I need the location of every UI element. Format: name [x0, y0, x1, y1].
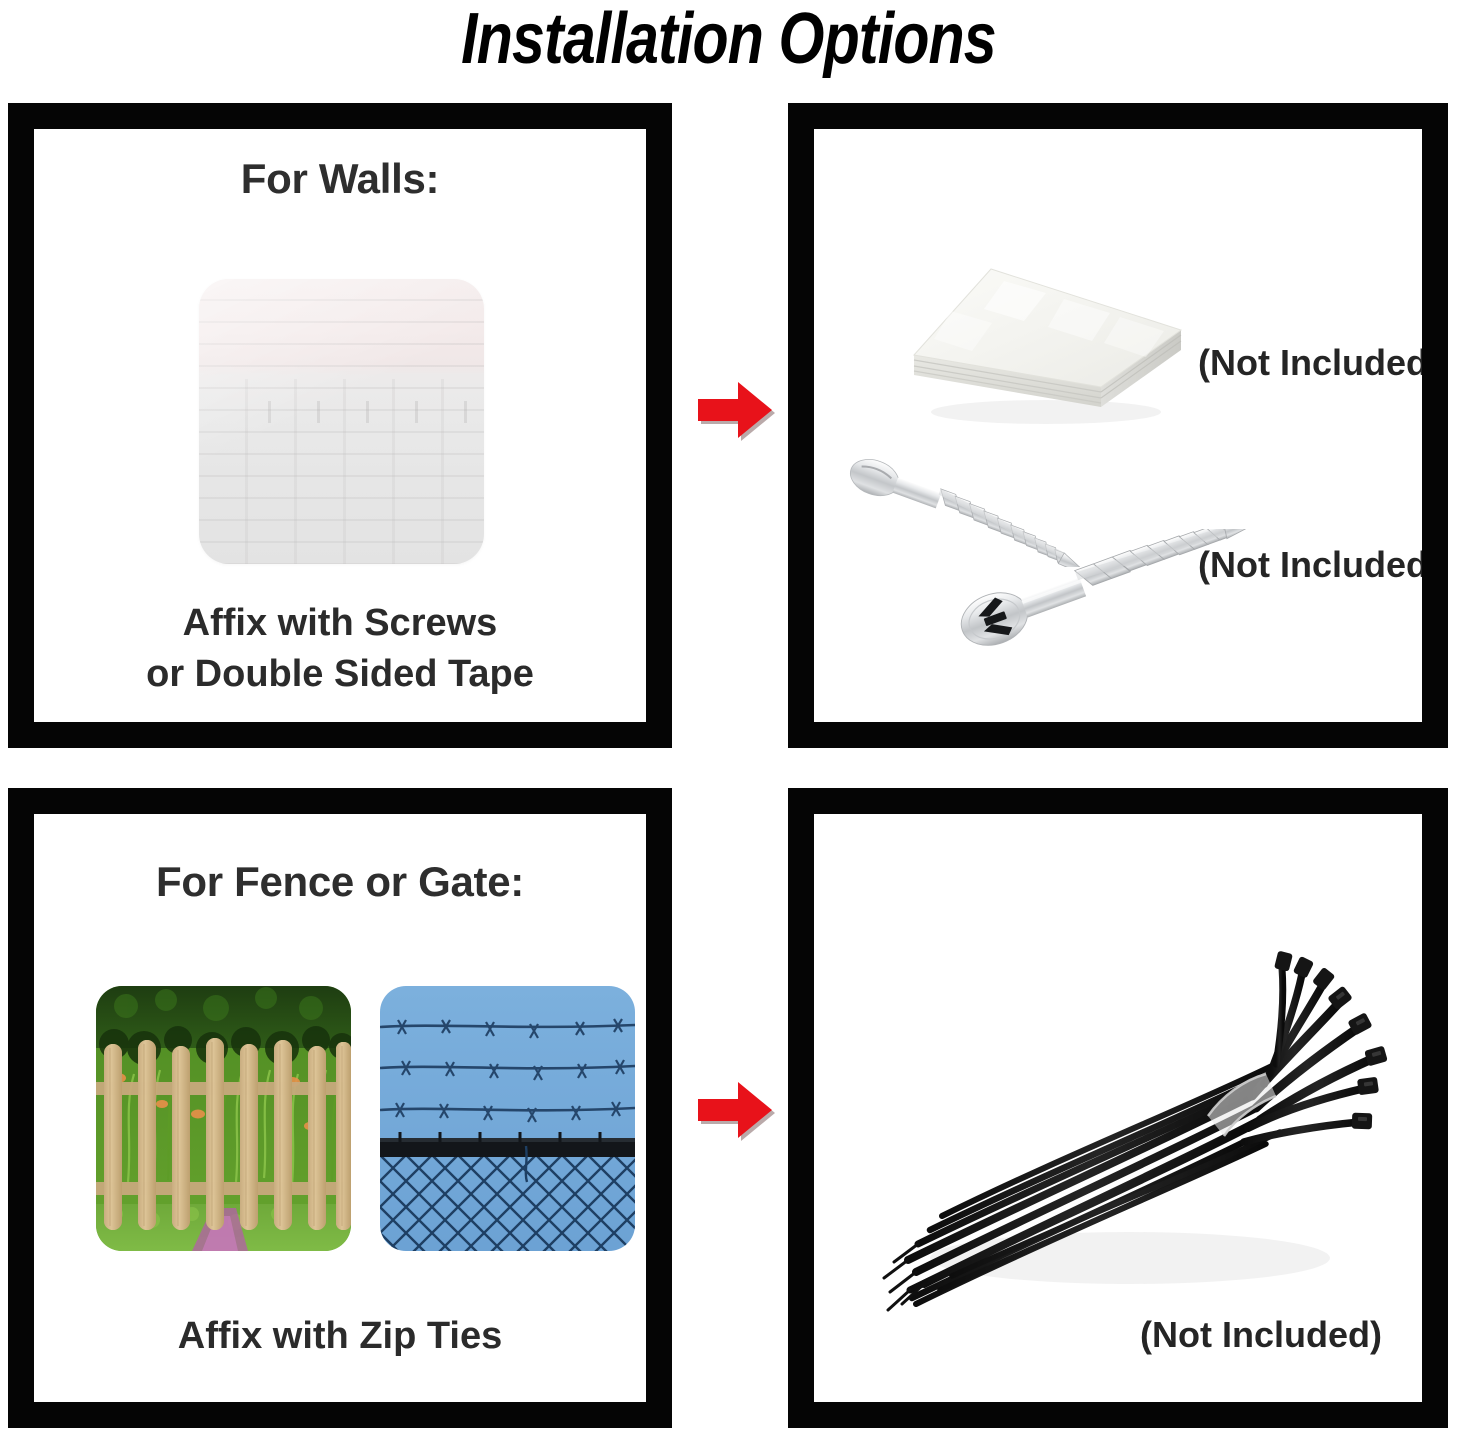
panel-zip-ties: (Not Included)	[788, 788, 1448, 1428]
panel-caption-for-fence: Affix with Zip Ties	[34, 1311, 646, 1362]
panel-for-fence-or-gate: For Fence or Gate:	[8, 788, 672, 1428]
caption-line-screws: Affix with Screws	[34, 598, 646, 649]
red-right-arrow-icon-top	[692, 375, 776, 445]
panel-for-walls: For Walls: Affix with Screws or Double S…	[8, 103, 672, 748]
panel-for-walls-content: For Walls: Affix with Screws or Double S…	[34, 129, 646, 722]
panel-wall-hardware: (Not Included)	[788, 103, 1448, 748]
tape-not-included-label: (Not Included)	[1198, 342, 1422, 384]
page-title: Installation Options	[131, 2, 1326, 78]
red-right-arrow-icon-bottom	[692, 1075, 776, 1145]
caption-line-zip-ties: Affix with Zip Ties	[34, 1311, 646, 1362]
wooden-picket-fence-photo	[96, 986, 351, 1251]
wall-highlight-sheen	[199, 279, 484, 564]
infographic-root: Installation Options For Walls: Affix wi…	[0, 0, 1457, 1434]
white-brick-wall-photo	[199, 279, 484, 564]
black-zip-ties-bundle-photo	[860, 928, 1400, 1328]
chain-link-barbed-wire-fence-photo	[380, 986, 635, 1251]
panel-for-fence-content: For Fence or Gate:	[34, 814, 646, 1402]
panel-zip-ties-content: (Not Included)	[814, 814, 1422, 1402]
panel-caption-for-walls: Affix with Screws or Double Sided Tape	[34, 598, 646, 700]
panel-heading-for-walls: For Walls:	[34, 155, 646, 203]
screws-not-included-label: (Not Included)	[1198, 544, 1422, 586]
caption-line-tape: or Double Sided Tape	[34, 649, 646, 700]
panel-wall-hardware-content: (Not Included)	[814, 129, 1422, 722]
panel-heading-for-fence-or-gate: For Fence or Gate:	[34, 858, 646, 906]
double-sided-tape-stack-photo	[896, 247, 1196, 432]
zip-ties-not-included-label: (Not Included)	[1140, 1314, 1382, 1356]
